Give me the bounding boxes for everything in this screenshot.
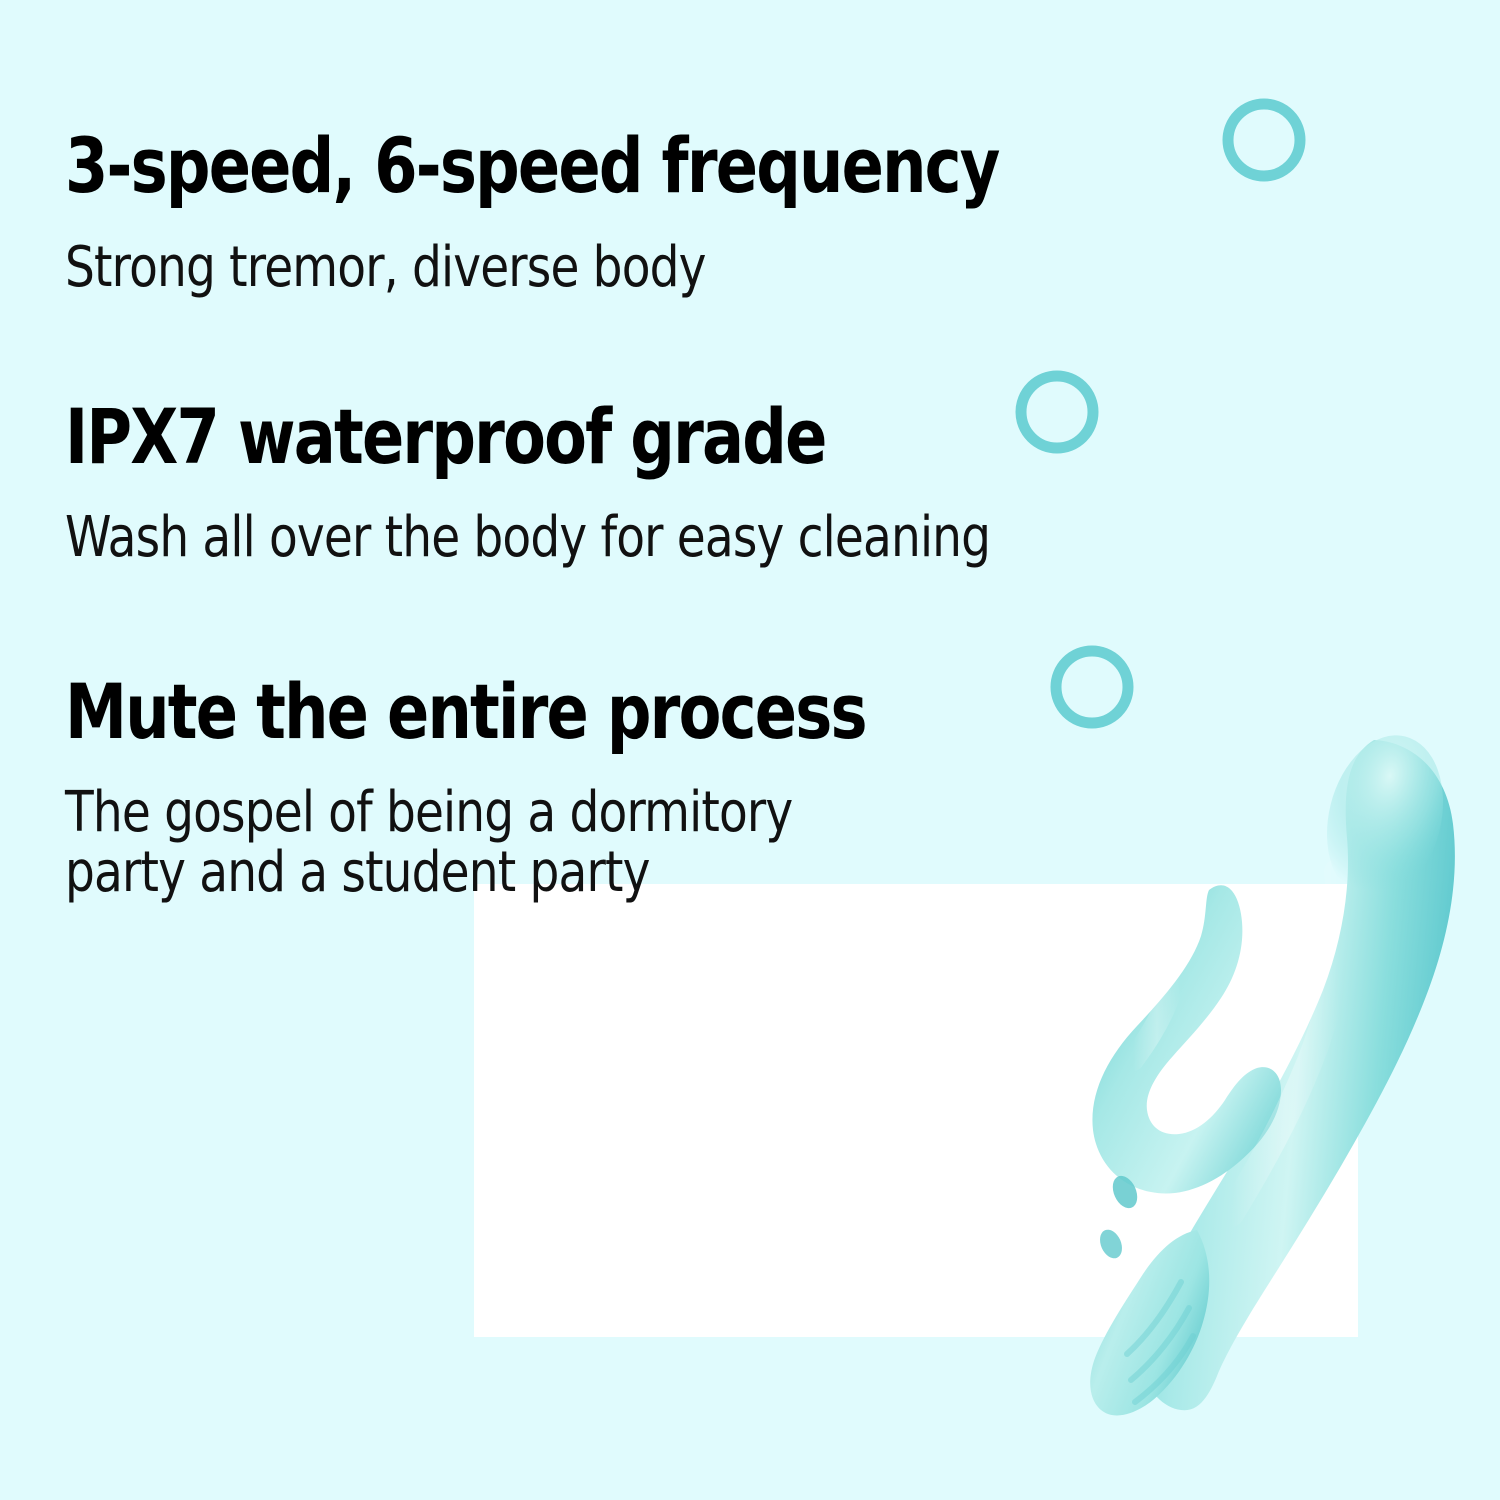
feature-heading-row: 3-speed, 6-speed frequency: [65, 92, 1365, 240]
feature-heading-row: IPX7 waterproof grade: [65, 364, 1365, 510]
feature-subtitle: The gospel of being a dormitory party an…: [65, 783, 1157, 904]
feature-list: 3-speed, 6-speed frequency Strong tremor…: [65, 92, 1365, 904]
feature-title: 3-speed, 6-speed frequency: [65, 128, 999, 204]
feature-item-mute: Mute the entire process The gospel of be…: [65, 639, 1365, 904]
feature-subtitle: Strong tremor, diverse body: [65, 238, 1157, 298]
ring-circle-icon: [1216, 92, 1312, 188]
feature-subtitle: Wash all over the body for easy cleaning: [65, 508, 1157, 568]
ring-circle-icon: [1009, 364, 1105, 460]
feature-item-speed: 3-speed, 6-speed frequency Strong tremor…: [65, 92, 1365, 298]
feature-heading-row: Mute the entire process: [65, 639, 1365, 785]
product-photo-plate: [474, 884, 1358, 1337]
feature-title: Mute the entire process: [65, 674, 866, 750]
feature-item-waterproof: IPX7 waterproof grade Wash all over the …: [65, 364, 1365, 568]
ring-circle-icon: [1044, 639, 1140, 735]
product-feature-poster: 3-speed, 6-speed frequency Strong tremor…: [0, 0, 1500, 1500]
feature-title: IPX7 waterproof grade: [65, 399, 826, 475]
